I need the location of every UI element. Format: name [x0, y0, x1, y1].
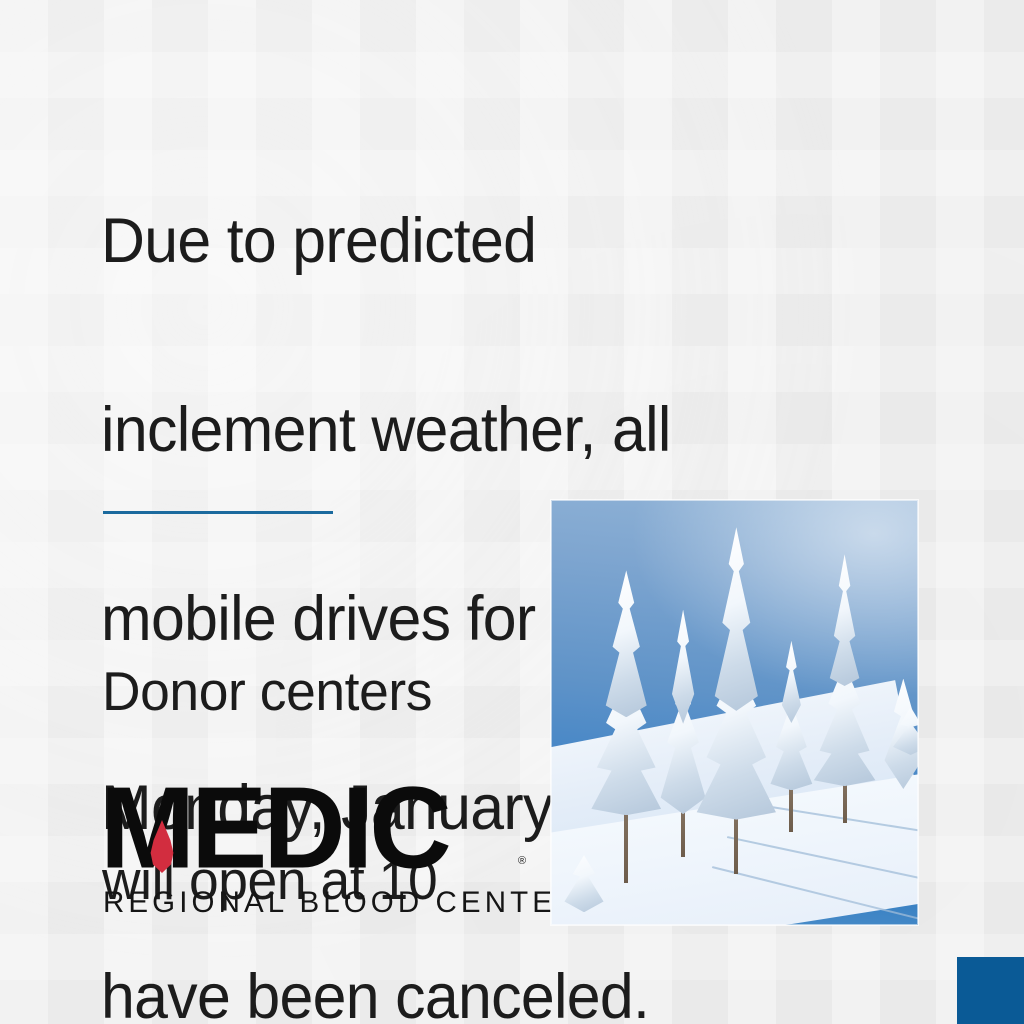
- photo-shrub: [889, 704, 918, 755]
- poster-canvas: Due to predicted inclement weather, all …: [0, 0, 1024, 1024]
- headline-line-1: Due to predicted: [101, 210, 796, 273]
- winter-scene-photo: [551, 500, 918, 925]
- photo-shrub: [558, 853, 609, 913]
- section-divider: [103, 511, 333, 514]
- corner-accent-square: [957, 957, 1024, 1024]
- registered-trademark-icon: ®: [518, 855, 526, 867]
- subhead-line-1: Donor centers: [102, 660, 519, 723]
- headline-line-2: inclement weather, all: [101, 399, 796, 462]
- photo-tree: [808, 560, 881, 824]
- logo-tagline: REGIONAL BLOOD CENTER: [103, 886, 581, 920]
